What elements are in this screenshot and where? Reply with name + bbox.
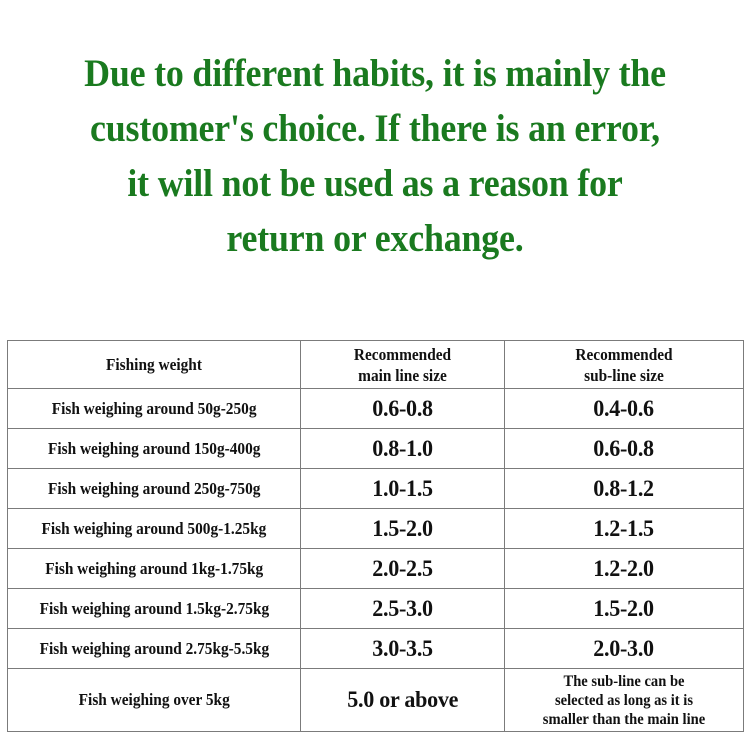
cell-fishing-weight: Fish weighing around 2.75kg-5.5kg bbox=[8, 629, 301, 669]
cell-fishing-weight: Fish weighing around 500g-1.25kg bbox=[8, 509, 301, 549]
table-row: Fish weighing over 5kg 5.0 or above The … bbox=[8, 669, 744, 732]
cell-main-line-size-text: 0.6-0.8 bbox=[372, 396, 433, 422]
cell-sub-line-size: 2.0-3.0 bbox=[505, 629, 744, 669]
cell-sub-line-size: 1.2-2.0 bbox=[505, 549, 744, 589]
cell-fishing-weight: Fish weighing around 250g-750g bbox=[8, 469, 301, 509]
table-row: Fish weighing around 50g-250g 0.6-0.8 0.… bbox=[8, 389, 744, 429]
cell-main-line-size: 3.0-3.5 bbox=[301, 629, 505, 669]
cell-sub-line-size-text: 0.8-1.2 bbox=[594, 476, 655, 502]
page-root: Due to different habits, it is mainly th… bbox=[0, 0, 750, 750]
notice-line-4: return or exchange. bbox=[30, 211, 720, 266]
cell-sub-line-size: 1.5-2.0 bbox=[505, 589, 744, 629]
cell-fishing-weight-text: Fish weighing around 250g-750g bbox=[48, 479, 260, 499]
cell-fishing-weight-text: Fish weighing around 1kg-1.75kg bbox=[45, 559, 263, 579]
cell-main-line-size: 5.0 or above bbox=[301, 669, 505, 732]
table-row: Fish weighing around 500g-1.25kg 1.5-2.0… bbox=[8, 509, 744, 549]
cell-main-line-size: 2.0-2.5 bbox=[301, 549, 505, 589]
column-header-main-line-size-label-1: Recommended bbox=[312, 344, 493, 365]
cell-main-line-size: 1.0-1.5 bbox=[301, 469, 505, 509]
cell-main-line-size: 1.5-2.0 bbox=[301, 509, 505, 549]
cell-fishing-weight: Fish weighing around 1kg-1.75kg bbox=[8, 549, 301, 589]
cell-sub-line-size-text: 0.6-0.8 bbox=[594, 436, 655, 462]
cell-main-line-size-text: 0.8-1.0 bbox=[372, 436, 433, 462]
line-size-table: Fishing weight Recommended main line siz… bbox=[7, 340, 744, 732]
cell-sub-line-size: 0.4-0.6 bbox=[505, 389, 744, 429]
cell-fishing-weight-text: Fish weighing around 150g-400g bbox=[48, 439, 260, 459]
table-row: Fish weighing around 1kg-1.75kg 2.0-2.5 … bbox=[8, 549, 744, 589]
cell-sub-line-size: 0.6-0.8 bbox=[505, 429, 744, 469]
column-header-main-line-size-label-2: main line size bbox=[312, 365, 493, 386]
cell-fishing-weight-text: Fish weighing around 2.75kg-5.5kg bbox=[39, 639, 269, 659]
cell-sub-line-size: 0.8-1.2 bbox=[505, 469, 744, 509]
cell-sub-line-note: The sub-line can be selected as long as … bbox=[505, 669, 744, 732]
cell-fishing-weight-text: Fish weighing over 5kg bbox=[78, 690, 229, 710]
cell-main-line-size: 2.5-3.0 bbox=[301, 589, 505, 629]
table-row: Fish weighing around 2.75kg-5.5kg 3.0-3.… bbox=[8, 629, 744, 669]
cell-sub-line-size: 1.2-1.5 bbox=[505, 509, 744, 549]
cell-main-line-size-text: 2.0-2.5 bbox=[372, 556, 433, 582]
table-row: Fish weighing around 1.5kg-2.75kg 2.5-3.… bbox=[8, 589, 744, 629]
notice-line-2: customer's choice. If there is an error, bbox=[30, 101, 720, 156]
cell-main-line-size: 0.6-0.8 bbox=[301, 389, 505, 429]
column-header-fishing-weight-label: Fishing weight bbox=[22, 354, 286, 375]
cell-sub-line-size-text: 2.0-3.0 bbox=[594, 636, 655, 662]
cell-fishing-weight-text: Fish weighing around 500g-1.25kg bbox=[42, 519, 267, 539]
table-row: Fish weighing around 150g-400g 0.8-1.0 0… bbox=[8, 429, 744, 469]
return-policy-notice: Due to different habits, it is mainly th… bbox=[30, 46, 720, 266]
cell-main-line-size-text: 5.0 or above bbox=[347, 687, 458, 713]
cell-sub-line-size-text: 1.2-1.5 bbox=[594, 516, 655, 542]
cell-sub-line-note-line-1: The sub-line can be bbox=[516, 672, 732, 691]
cell-main-line-size-text: 1.5-2.0 bbox=[372, 516, 433, 542]
table-header-row: Fishing weight Recommended main line siz… bbox=[8, 341, 744, 389]
cell-sub-line-note-line-3: smaller than the main line bbox=[516, 710, 732, 729]
cell-sub-line-size-text: 1.2-2.0 bbox=[594, 556, 655, 582]
column-header-sub-line-size-label-2: sub-line size bbox=[517, 365, 731, 386]
cell-main-line-size-text: 2.5-3.0 bbox=[372, 596, 433, 622]
cell-main-line-size-text: 3.0-3.5 bbox=[372, 636, 433, 662]
cell-fishing-weight: Fish weighing around 150g-400g bbox=[8, 429, 301, 469]
cell-main-line-size-text: 1.0-1.5 bbox=[372, 476, 433, 502]
column-header-sub-line-size: Recommended sub-line size bbox=[505, 341, 744, 389]
cell-fishing-weight-text: Fish weighing around 50g-250g bbox=[52, 399, 257, 419]
cell-sub-line-size-text: 1.5-2.0 bbox=[594, 596, 655, 622]
cell-fishing-weight: Fish weighing over 5kg bbox=[8, 669, 301, 732]
notice-line-1: Due to different habits, it is mainly th… bbox=[30, 46, 720, 101]
cell-fishing-weight: Fish weighing around 1.5kg-2.75kg bbox=[8, 589, 301, 629]
column-header-fishing-weight: Fishing weight bbox=[8, 341, 301, 389]
cell-main-line-size: 0.8-1.0 bbox=[301, 429, 505, 469]
cell-sub-line-note-line-2: selected as long as it is bbox=[516, 691, 732, 710]
column-header-sub-line-size-label-1: Recommended bbox=[517, 344, 731, 365]
cell-fishing-weight: Fish weighing around 50g-250g bbox=[8, 389, 301, 429]
column-header-main-line-size: Recommended main line size bbox=[301, 341, 505, 389]
cell-fishing-weight-text: Fish weighing around 1.5kg-2.75kg bbox=[39, 599, 269, 619]
table-row: Fish weighing around 250g-750g 1.0-1.5 0… bbox=[8, 469, 744, 509]
cell-sub-line-size-text: 0.4-0.6 bbox=[594, 396, 655, 422]
table-body: Fish weighing around 50g-250g 0.6-0.8 0.… bbox=[8, 389, 744, 732]
table-header: Fishing weight Recommended main line siz… bbox=[8, 341, 744, 389]
notice-line-3: it will not be used as a reason for bbox=[30, 156, 720, 211]
